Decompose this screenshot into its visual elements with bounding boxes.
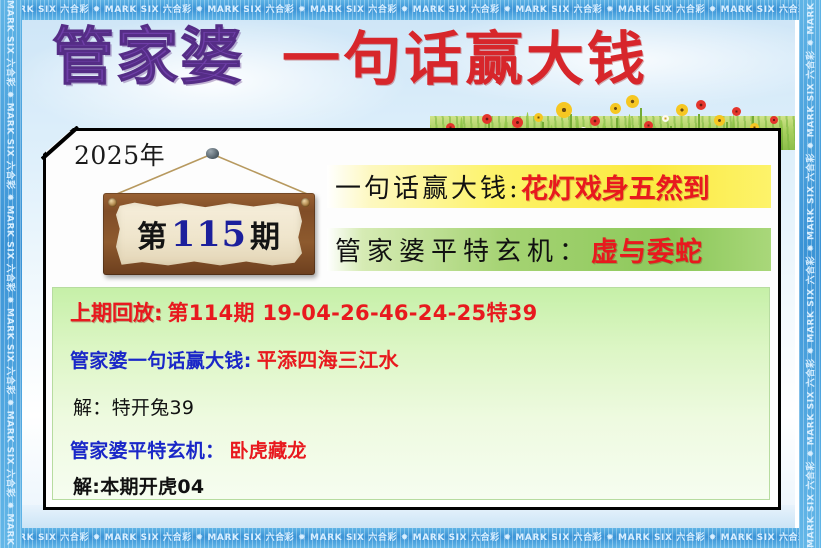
- riddle-value: 卧虎藏龙: [230, 440, 307, 462]
- sign-screw-right: [301, 198, 310, 207]
- row-riddle: 管家婆平特玄机： 卧虎藏龙: [70, 436, 307, 463]
- border-left-text: MARK SIX 六合彩 ✹ MARK SIX 六合彩 ✹ MARK SIX 六…: [5, 0, 18, 548]
- issue-prefix: 第: [137, 212, 168, 256]
- issue-suffix: 期: [250, 212, 281, 256]
- border-top: MARK SIX 六合彩 ✹ MARK SIX 六合彩 ✹ MARK SIX 六…: [0, 0, 821, 20]
- border-bottom: MARK SIX 六合彩 ✹ MARK SIX 六合彩 ✹ MARK SIX 六…: [0, 528, 821, 548]
- border-right: MARK SIX 六合彩 ✹ MARK SIX 六合彩 ✹ MARK SIX 六…: [799, 0, 821, 548]
- phrase-value: 平添四海三江水: [257, 348, 399, 372]
- band-riddle-label: 管家婆平特玄机：: [335, 231, 591, 268]
- row-replay: 上期回放: 第114期 19-04-26-46-24-25特39: [70, 297, 538, 327]
- border-right-text: MARK SIX 六合彩 ✹ MARK SIX 六合彩 ✹ MARK SIX 六…: [804, 0, 817, 548]
- page-title-brand: 管家婆: [52, 26, 244, 88]
- page-title-slogan: 一句话赢大钱: [282, 30, 648, 88]
- border-left: MARK SIX 六合彩 ✹ MARK SIX 六合彩 ✹ MARK SIX 六…: [0, 0, 22, 548]
- band-phrase: 一句话赢大钱: 花灯戏身五然到: [327, 165, 771, 208]
- sign-hook: [206, 148, 219, 159]
- issue-sign: 第 115 期: [103, 193, 315, 275]
- replay-label: 上期回放:: [70, 301, 162, 325]
- row-phrase: 管家婆一句话赢大钱: 平添四海三江水: [70, 344, 399, 373]
- riddle-label: 管家婆平特玄机：: [70, 440, 224, 462]
- issue-text: 第 115 期: [116, 202, 302, 266]
- phrase-label: 管家婆一句话赢大钱:: [70, 350, 252, 372]
- phrase-answer: 解：特开兔39: [73, 393, 194, 420]
- replay-value: 第114期 19-04-26-46-24-25特39: [168, 301, 538, 325]
- band-riddle: 管家婆平特玄机： 虚与委蛇: [327, 228, 771, 271]
- band-riddle-value: 虚与委蛇: [591, 230, 703, 269]
- band-phrase-value: 花灯戏身五然到: [521, 167, 710, 206]
- riddle-answer: 解:本期开虎04: [73, 472, 204, 499]
- band-phrase-label: 一句话赢大钱:: [335, 168, 521, 205]
- issue-number: 115: [168, 214, 250, 255]
- poster-root: 管家婆 一句话赢大钱 2025年 第 115 期 一句话赢大钱: 花灯戏身五然到…: [0, 0, 821, 548]
- info-box: 上期回放: 第114期 19-04-26-46-24-25特39 管家婆一句话赢…: [52, 287, 770, 500]
